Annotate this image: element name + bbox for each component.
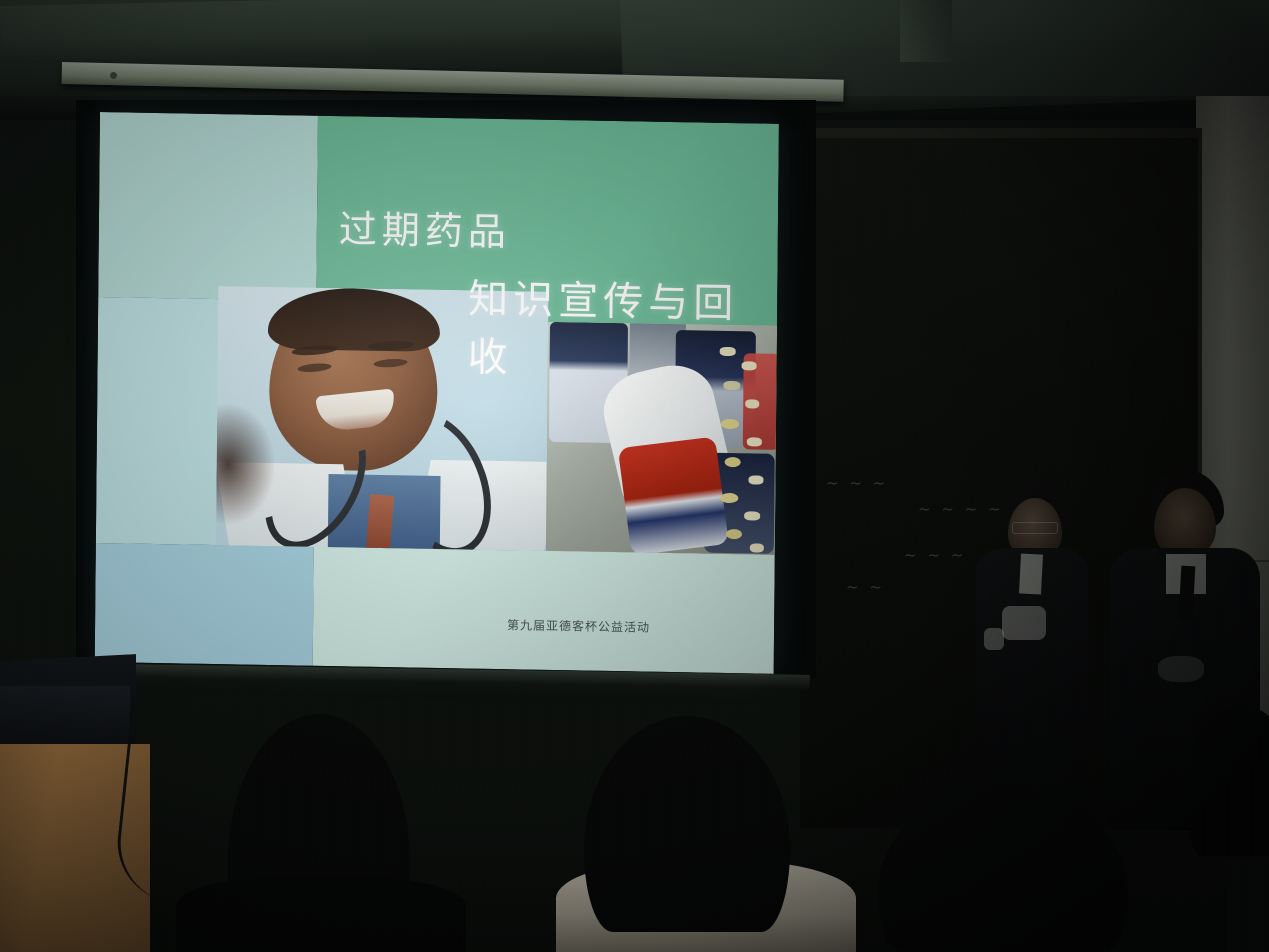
presenter-with-glasses [968,482,1100,812]
medicine-bottle-red [618,436,729,554]
audience-member-shoulders [176,876,466,952]
projected-slide: 过期药品 知识宣传与回收 第九届亚德客杯公益活动 [95,112,779,674]
blackboard-frame [800,128,1198,138]
chalk-mark: ~ ~ [846,578,885,596]
doctor-tie [366,494,394,551]
slide-title-line-1: 过期药品 [339,198,512,256]
ceiling-duct [900,0,952,62]
slide-title-line-2: 知识宣传与回收 [467,266,777,387]
slide-panel-bottom-right [313,547,775,674]
photo-edge-shadow [216,404,275,525]
slide-title-block: 过期药品 知识宣传与回收 [315,116,779,434]
presentation-photo-scene: ~ ~ ~ ~ ~ ~ ~ ~ ~ ~ ~ ~ [0,0,1269,952]
audience-member-far-right [1226,860,1269,952]
slide-panel-bottom-left [95,543,314,666]
chalk-mark: ~ ~ ~ [826,474,888,492]
slide-panel-top-left [98,112,318,301]
slide-caption: 第九届亚德客杯公益活动 [507,616,650,635]
laptop-on-podium [0,686,130,752]
chalk-mark: ~ ~ ~ [904,546,966,564]
